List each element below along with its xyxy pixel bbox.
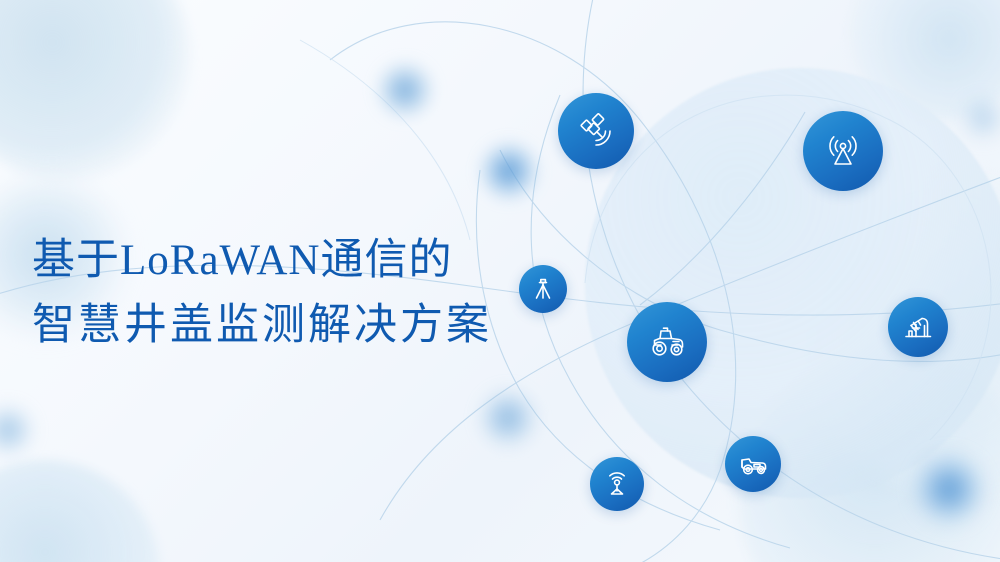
tractor-icon: [643, 318, 691, 366]
presentation-slide: 基于LoRaWAN通信的 智慧井盖监测解决方案: [0, 0, 1000, 562]
title-line-1: 基于LoRaWAN通信的: [32, 228, 572, 293]
node-satellite[interactable]: [558, 93, 634, 169]
autonomous-rover-icon: [736, 447, 770, 481]
node-oil-pumpjack[interactable]: [888, 297, 948, 357]
node-autonomous-rover[interactable]: [725, 436, 781, 492]
gnss-receiver-icon: [601, 468, 633, 500]
oil-pumpjack-icon: [900, 309, 936, 345]
satellite-icon: [574, 109, 618, 153]
node-gnss-receiver[interactable]: [590, 457, 644, 511]
node-tractor[interactable]: [627, 302, 707, 382]
slide-title: 基于LoRaWAN通信的 智慧井盖监测解决方案: [32, 228, 572, 359]
node-radio-tower[interactable]: [803, 111, 883, 191]
radio-tower-icon: [820, 128, 866, 174]
title-line-2: 智慧井盖监测解决方案: [32, 293, 572, 358]
